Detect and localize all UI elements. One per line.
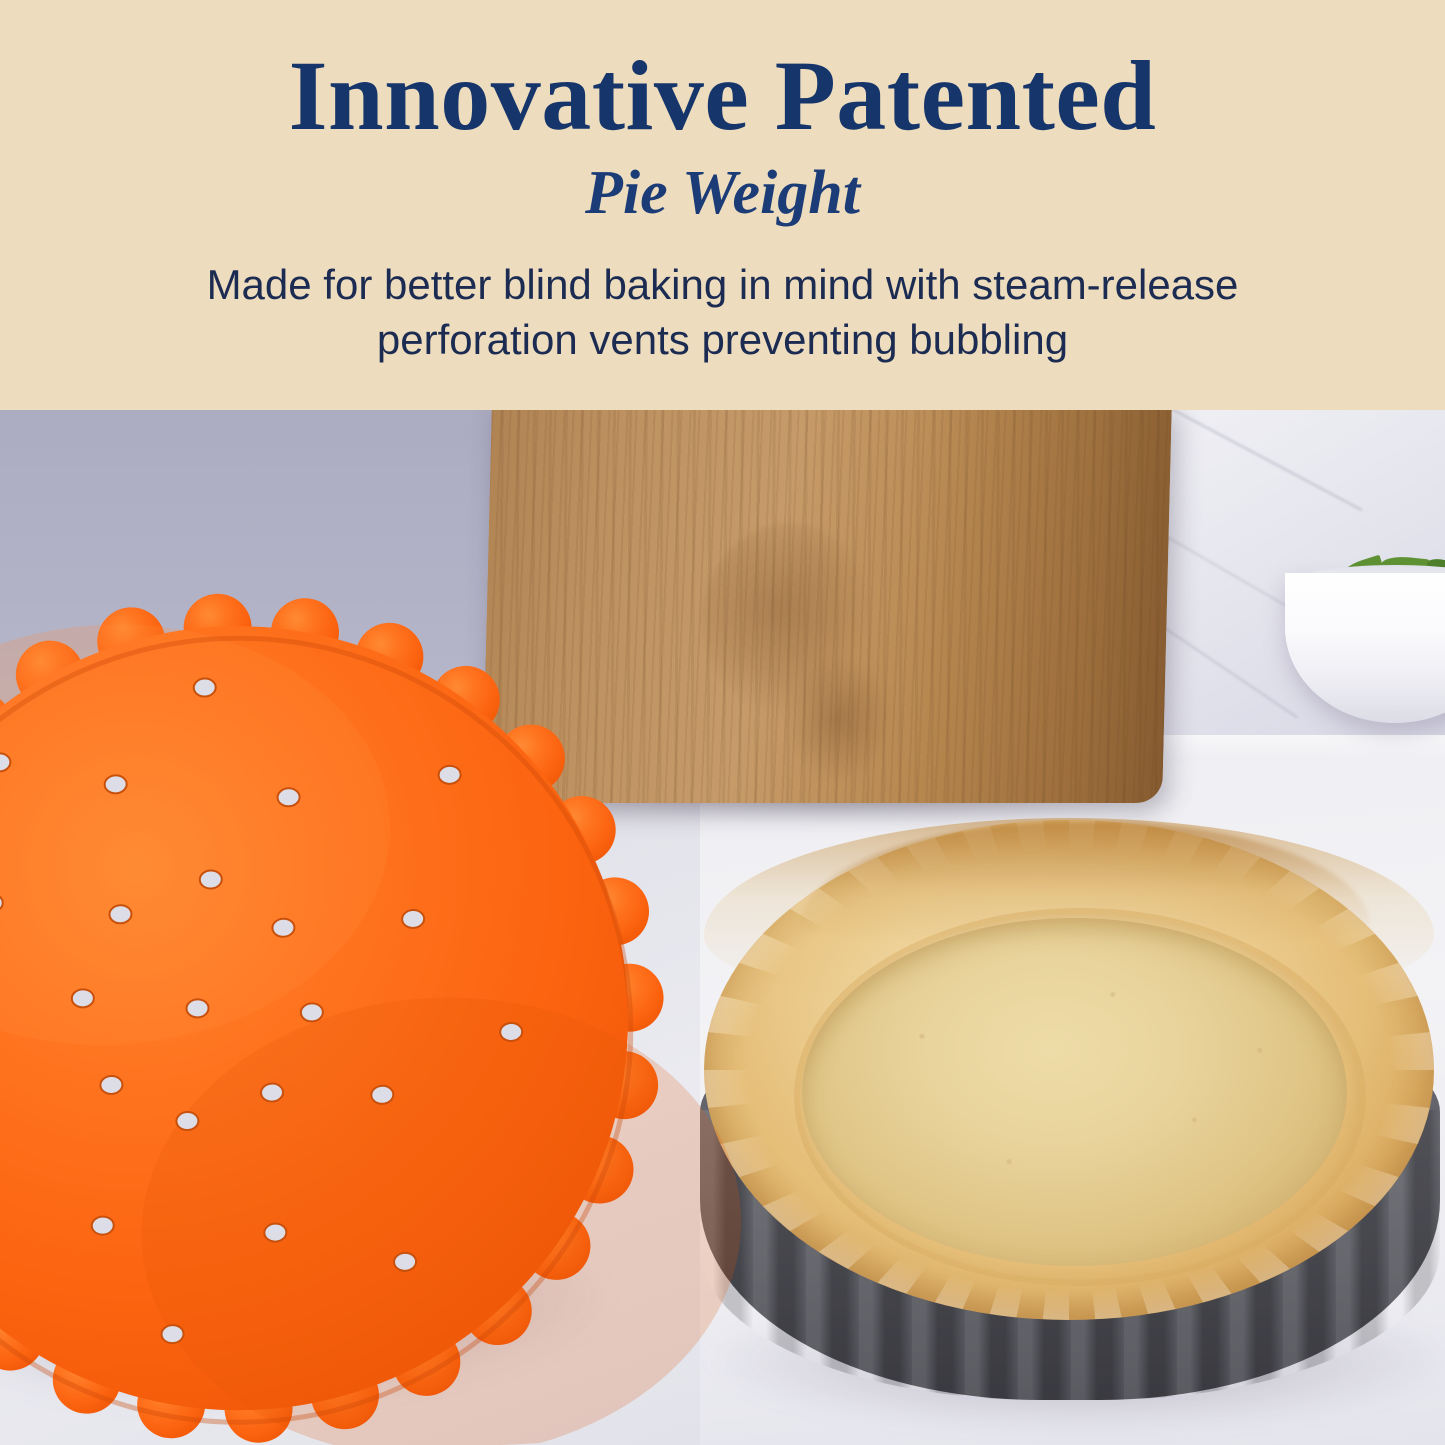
pie-weight-graphic — [0, 553, 752, 1445]
wood-shading — [912, 405, 1172, 803]
tart-crust-inner-lip — [794, 908, 1366, 1286]
tart-shell-in-pan — [690, 760, 1445, 1445]
page-subtitle: Pie Weight — [585, 162, 860, 224]
description-line-2: perforation vents preventing bubbling — [207, 313, 1239, 368]
description-text: Made for better blind baking in mind wit… — [207, 258, 1239, 367]
header-banner: Innovative Patented Pie Weight Made for … — [0, 0, 1445, 410]
product-photo — [0, 405, 1445, 1445]
strawberry-bowl — [1285, 555, 1445, 735]
silicone-pie-weight — [0, 553, 752, 1445]
page-title: Innovative Patented — [289, 46, 1157, 146]
pie-weight-body — [0, 568, 752, 1445]
product-marketing-image: Innovative Patented Pie Weight Made for … — [0, 0, 1445, 1445]
bowl-body — [1285, 573, 1445, 723]
description-line-1: Made for better blind baking in mind wit… — [207, 258, 1239, 313]
